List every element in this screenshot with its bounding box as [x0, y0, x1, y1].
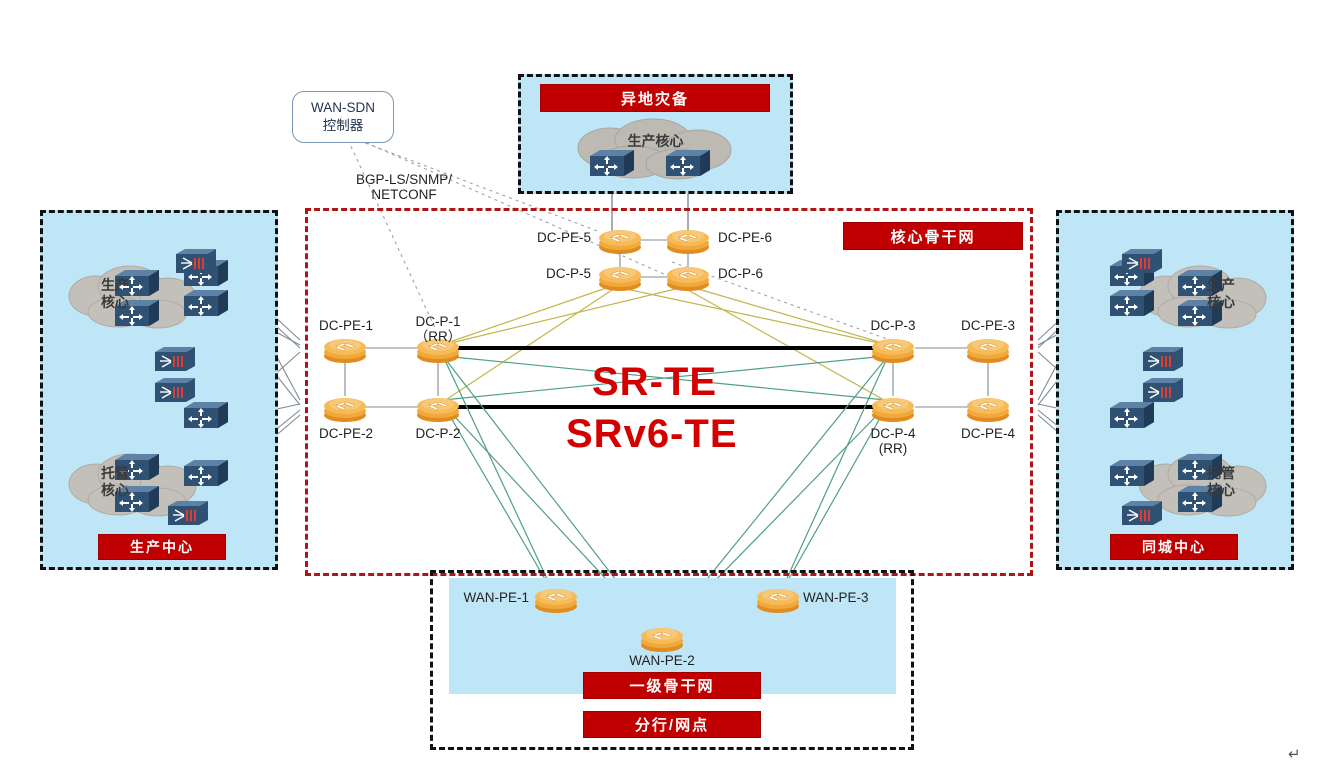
router-dc-pe-1[interactable] [322, 334, 368, 364]
cloud-left-hosting-core: 托管 核心 [58, 448, 208, 520]
cloud-right-hosting-core: 托管 核心 [1128, 448, 1278, 520]
label-wan-pe-3: WAN-PE-3 [803, 590, 869, 606]
router-dc-pe-6[interactable] [665, 225, 711, 255]
cloud-left-prod-line2: 核心 [101, 294, 129, 311]
router-dc-p-3[interactable] [870, 334, 916, 364]
switch-left-agg-2 [184, 288, 228, 318]
label-dc-p-2: DC-P-2 [400, 426, 476, 442]
banner-primary-backbone: 一级骨干网 [583, 672, 761, 699]
firewall-left-2 [155, 345, 195, 373]
router-wan-pe-2[interactable] [639, 623, 685, 653]
label-dc-pe-6: DC-PE-6 [718, 230, 772, 246]
controller-subtitle: 控制器 [323, 117, 364, 135]
cloud-right-host-line1: 托管 [1207, 465, 1235, 482]
cloud-left-host-line2: 核心 [101, 482, 129, 499]
firewall-right-2 [1143, 345, 1183, 373]
switch-left-agg-3 [184, 400, 228, 430]
router-dc-p-4[interactable] [870, 393, 916, 423]
cloud-left-host-line1: 托管 [101, 465, 129, 482]
cloud-left-production-core: 生产 核心 [58, 260, 208, 332]
router-wan-pe-3[interactable] [755, 584, 801, 614]
banner-core-backbone: 核心骨干网 [843, 222, 1023, 250]
label-dc-pe-4: DC-PE-4 [950, 426, 1026, 442]
cloud-dr-core-label: 生产核心 [628, 133, 684, 150]
label-dc-pe-1: DC-PE-1 [308, 318, 384, 334]
router-dc-pe-4[interactable] [965, 393, 1011, 423]
router-wan-pe-1[interactable] [533, 584, 579, 614]
label-dc-p-5: DC-P-5 [495, 266, 591, 282]
wan-sdn-controller[interactable]: WAN-SDN 控制器 [292, 91, 394, 143]
switch-left-agg-4 [184, 458, 228, 488]
router-dc-pe-3[interactable] [965, 334, 1011, 364]
label-dc-p-1-rr: （RR） [400, 329, 476, 345]
label-dc-p-4: DC-P-4 [855, 426, 931, 442]
cloud-dr-core: 生产核心 [558, 118, 753, 180]
label-wan-pe-2: WAN-PE-2 [612, 653, 712, 669]
label-dc-p-3: DC-P-3 [855, 318, 931, 334]
router-dc-p-6[interactable] [665, 262, 711, 292]
controller-protocol-line1: BGP-LS/SNMP/ [334, 172, 474, 188]
firewall-right-3 [1143, 376, 1183, 404]
label-dc-pe-2: DC-PE-2 [308, 426, 384, 442]
firewall-left-3 [155, 376, 195, 404]
label-dc-pe-5: DC-PE-5 [495, 230, 591, 246]
srv6te-label: SRv6-TE [566, 412, 738, 457]
banner-metro-center: 同城中心 [1110, 534, 1238, 560]
label-dc-p-1: DC-P-1 [400, 314, 476, 330]
srte-label: SR-TE [592, 360, 717, 405]
label-wan-pe-1: WAN-PE-1 [437, 590, 529, 606]
cloud-right-production-core: 生产 核心 [1128, 260, 1278, 332]
controller-name: WAN-SDN [311, 99, 375, 117]
router-dc-pe-2[interactable] [322, 393, 368, 423]
banner-production-center: 生产中心 [98, 534, 226, 560]
banner-branch: 分行/网点 [583, 711, 761, 738]
cloud-right-prod-line2: 核心 [1207, 294, 1235, 311]
switch-right-agg-3 [1110, 400, 1154, 430]
diagram-canvas: .lnk{fill:none;} .g{stroke:#4f9e86;strok… [0, 0, 1338, 783]
router-dc-pe-5[interactable] [597, 225, 643, 255]
router-dc-p-5[interactable] [597, 262, 643, 292]
cloud-right-prod-line1: 生产 [1207, 277, 1235, 294]
banner-remote-dr: 异地灾备 [540, 84, 770, 112]
label-dc-p-6: DC-P-6 [718, 266, 763, 282]
controller-protocol-line2: NETCONF [334, 187, 474, 203]
router-dc-p-2[interactable] [415, 393, 461, 423]
label-dc-pe-3: DC-PE-3 [950, 318, 1026, 334]
cloud-right-host-line2: 核心 [1207, 482, 1235, 499]
label-dc-p-4-rr: (RR) [855, 441, 931, 457]
pilcrow-mark: ↵ [1288, 745, 1301, 763]
cloud-left-prod-line1: 生产 [101, 277, 129, 294]
